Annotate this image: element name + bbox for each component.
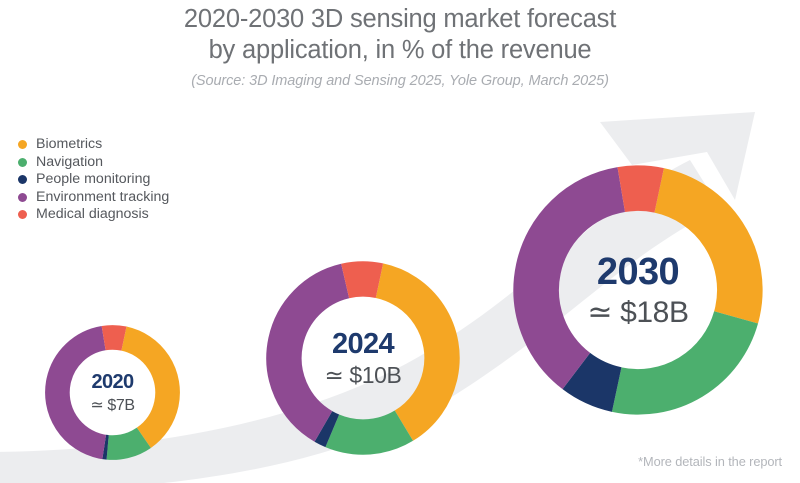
donut-rings-2020 [40, 320, 185, 465]
legend-item-biometrics[interactable]: Biometrics [18, 136, 248, 154]
legend-swatch-icon [18, 140, 27, 149]
legend-item-label: Environment tracking [36, 189, 169, 207]
chart-title-block: 2020-2030 3D sensing market forecast by … [0, 4, 800, 91]
legend-swatch-icon [18, 193, 27, 202]
donut-rings-2030 [504, 156, 772, 424]
donut-chart-2024[interactable]: 2024 ≃ $10B [259, 254, 467, 462]
page-title-line-2: by application, in % of the revenue [0, 35, 800, 66]
donut-chart-2020[interactable]: 2020 ≃ $7B [40, 320, 185, 465]
donut-rings-2024 [259, 254, 467, 462]
legend-swatch-icon [18, 158, 27, 167]
legend-item-label: Navigation [36, 154, 103, 172]
legend-item-navigation[interactable]: Navigation [18, 154, 248, 172]
donut-chart-2030[interactable]: 2030 ≃ $18B [504, 156, 772, 424]
legend-item-label: People monitoring [36, 171, 150, 189]
legend-item-label: Biometrics [36, 136, 102, 154]
legend-item-people-monitoring[interactable]: People monitoring [18, 171, 248, 189]
page-title-line-1: 2020-2030 3D sensing market forecast [0, 4, 800, 35]
legend-item-label: Medical diagnosis [36, 206, 149, 224]
legend-item-environment-tracking[interactable]: Environment tracking [18, 189, 248, 207]
legend-item-medical-diagnosis[interactable]: Medical diagnosis [18, 206, 248, 224]
footnote-note: *More details in the report [638, 454, 782, 469]
chart-source-note: (Source: 3D Imaging and Sensing 2025, Yo… [0, 71, 800, 91]
chart-legend: Biometrics Navigation People monitoring … [18, 136, 248, 224]
legend-swatch-icon [18, 210, 27, 219]
legend-swatch-icon [18, 175, 27, 184]
chart-canvas: 2020-2030 3D sensing market forecast by … [0, 0, 800, 483]
